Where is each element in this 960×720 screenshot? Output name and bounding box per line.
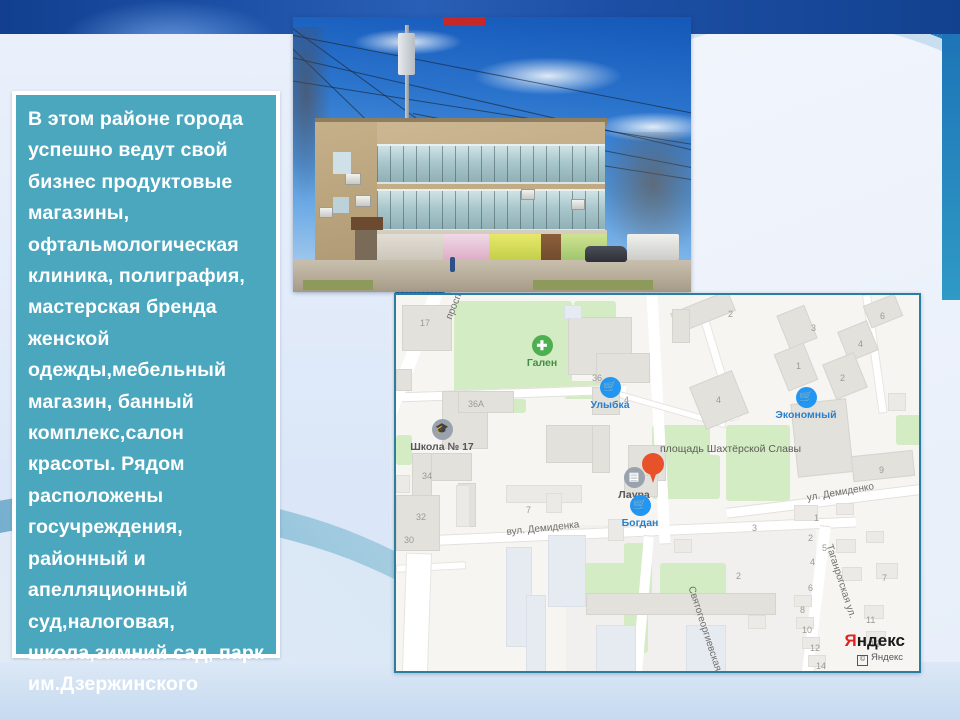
map-poi-label: Гален (502, 357, 582, 369)
map-building (546, 493, 562, 513)
map-building (586, 593, 776, 615)
building-photo (293, 17, 691, 292)
map-place-label: площадь Шахтёрской Славы (660, 443, 760, 455)
map-building-number: 3 (752, 523, 757, 533)
shop-sign (443, 17, 485, 26)
map-building (548, 535, 586, 607)
map-building-number: 17 (420, 318, 430, 328)
map-building-number: 6 (808, 583, 813, 593)
map-building-number: 1 (796, 361, 801, 371)
yandex-logo-ya: Я (845, 631, 857, 650)
map-building (748, 615, 766, 629)
map-building (564, 305, 582, 319)
shopping-basket-icon[interactable]: 🛒 (600, 377, 621, 398)
map-poi-label: Улыбка (570, 399, 650, 411)
air-conditioner (345, 173, 361, 185)
grass-strip (303, 280, 373, 290)
shopping-basket-icon[interactable]: 🛒 (630, 495, 651, 516)
grass-strip (533, 280, 653, 290)
shopping-basket-icon[interactable]: 🛒 (796, 387, 817, 408)
map-building-number: 6 (880, 311, 885, 321)
air-conditioner (319, 207, 333, 218)
map-poi-label: Богдан (600, 517, 680, 529)
yandex-logo[interactable]: Яндекс (845, 631, 905, 651)
yandex-credit-text: Яндекс (871, 652, 903, 663)
map-building-number: 7 (526, 505, 531, 515)
cloud (473, 57, 623, 95)
map-building-number: 9 (879, 465, 884, 475)
map-building-number: 32 (416, 512, 426, 522)
map-building-number: 36А (468, 399, 484, 409)
map-poi-label: Школа № 17 (402, 441, 482, 453)
window-side (333, 152, 351, 174)
text-callout-box: В этом районе города успешно ведут свой … (12, 91, 280, 658)
green-area (686, 455, 720, 499)
map-canvas[interactable]: 1736А34323036742634124912325476810121411… (396, 295, 919, 671)
map-building (888, 393, 906, 411)
school-icon[interactable]: 🎓 (432, 419, 453, 440)
map-building-number: 4 (810, 557, 815, 567)
road-minor (402, 553, 432, 673)
map-building-number: 2 (736, 571, 741, 581)
map-building-number: 4 (858, 339, 863, 349)
map-building (596, 625, 636, 673)
map-building (458, 391, 514, 413)
green-area (896, 415, 921, 445)
yandex-logo-text: ндекс (857, 631, 905, 650)
pharmacy-cross-icon[interactable]: ✚ (532, 335, 553, 356)
yandex-copyright: ©Яндекс (857, 652, 903, 666)
entrance-awning (351, 217, 383, 230)
map-poi[interactable]: 🛒Богдан (600, 495, 680, 529)
air-conditioner (571, 199, 585, 210)
map-poi[interactable]: 🛒Экономный (766, 387, 846, 421)
parked-car (585, 246, 627, 262)
map-building (592, 425, 610, 473)
map-poi[interactable]: 🎓Школа № 17 (402, 419, 482, 453)
yandex-map[interactable]: 1736А34323036742634124912325476810121411… (394, 293, 921, 673)
antenna-equipment (398, 33, 415, 75)
map-building (402, 305, 452, 351)
air-conditioner (355, 195, 371, 207)
map-building-number: 2 (840, 373, 845, 383)
presentation-slide: В этом районе города успешно ведут свой … (0, 0, 960, 720)
map-building (396, 475, 410, 493)
map-building-number: 2 (808, 533, 813, 543)
map-poi[interactable]: ✚Гален (502, 335, 582, 369)
map-building-number: 2 (728, 309, 733, 319)
body-paragraph: В этом районе города успешно ведут свой … (28, 104, 266, 701)
map-building-number: 7 (882, 573, 887, 583)
window-band-upper (377, 144, 605, 184)
copyright-icon: © (857, 655, 868, 666)
map-building (396, 369, 412, 391)
map-building-number: 11 (866, 615, 875, 625)
background-right-edge (942, 0, 960, 300)
green-area (726, 425, 790, 501)
map-pin-bubble (642, 453, 664, 475)
map-building (396, 495, 440, 551)
map-building (836, 539, 856, 553)
map-building-number: 10 (802, 625, 812, 635)
map-pin-icon[interactable] (642, 453, 664, 483)
map-poi-label: Экономный (766, 409, 846, 421)
map-building-number: 14 (816, 661, 826, 671)
air-conditioner (521, 189, 535, 200)
pedestrian (450, 257, 455, 272)
text-callout-inner: В этом районе города успешно ведут свой … (16, 95, 276, 654)
map-building-number: 34 (422, 471, 432, 481)
map-building-number: 3 (811, 323, 816, 333)
map-building-number: 4 (716, 395, 721, 405)
map-building (866, 531, 884, 543)
window-side (333, 197, 349, 213)
map-building-number: 1 (814, 513, 819, 523)
background-top-band-glow (60, 0, 280, 34)
map-building (672, 309, 690, 343)
map-building (456, 485, 470, 527)
map-building (526, 595, 546, 673)
map-building (674, 539, 692, 553)
map-poi[interactable]: 🛒Улыбка (570, 377, 650, 411)
map-building (506, 485, 582, 503)
window-band-lower (377, 189, 605, 231)
parked-van (627, 234, 679, 260)
map-building (836, 503, 854, 515)
map-building-number: 8 (800, 605, 805, 615)
map-building-number: 30 (404, 535, 414, 545)
map-building-number: 12 (810, 643, 820, 653)
